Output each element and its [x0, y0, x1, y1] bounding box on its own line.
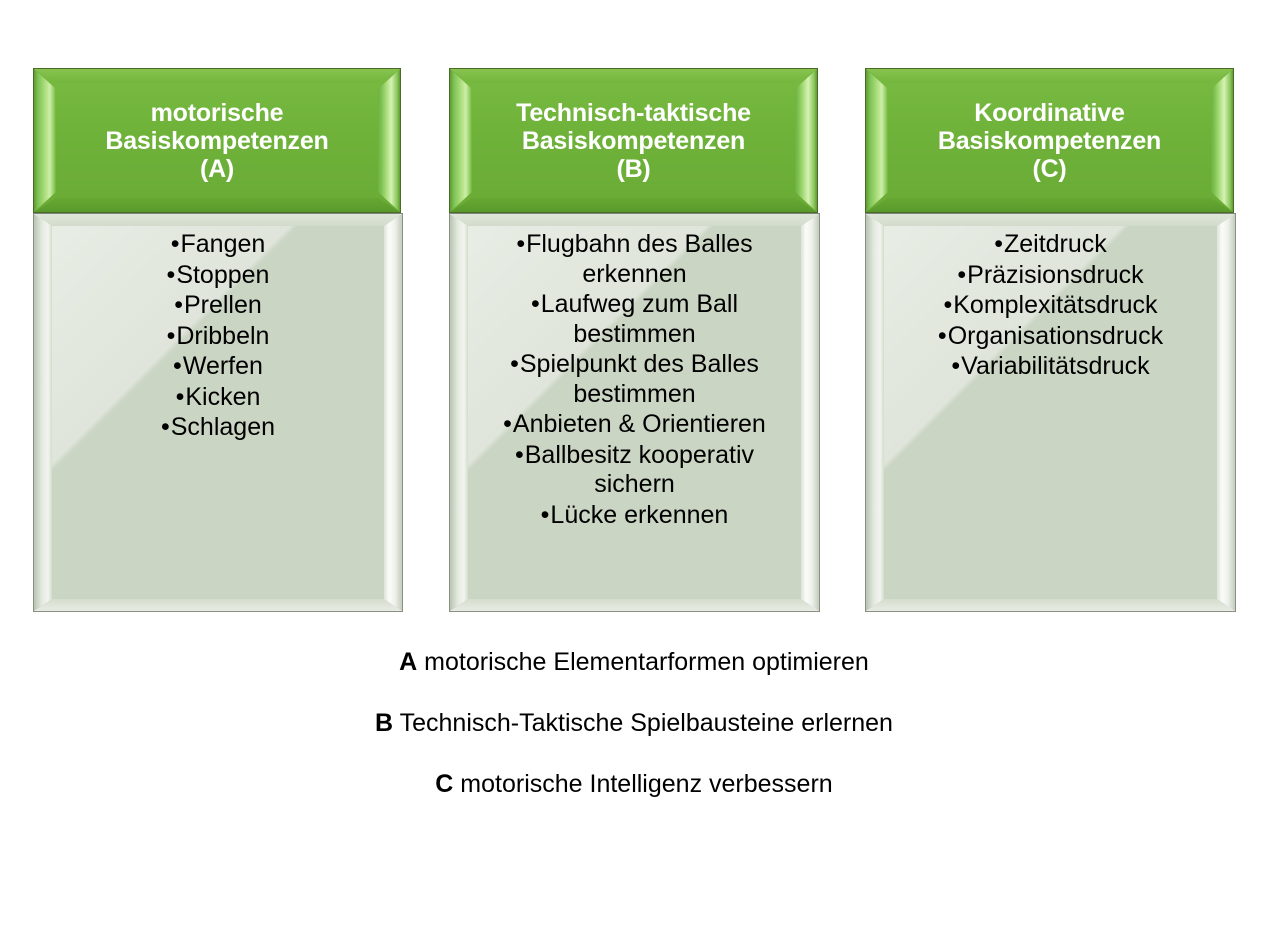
list-item: Dribbeln	[56, 322, 380, 352]
card-title-a: motorische Basiskompetenzen (A)	[34, 69, 400, 212]
competence-card-b: Technisch-taktische Basiskompetenzen (B)…	[449, 68, 820, 612]
card-title-c-line3: (C)	[1032, 155, 1066, 183]
list-item: Anbieten & Orientieren	[472, 410, 797, 440]
card-title-a-line3: (A)	[200, 155, 234, 183]
card-title-c: Koordinative Basiskompetenzen (C)	[866, 69, 1233, 212]
body-bevel-bottom-icon	[34, 599, 402, 611]
card-title-c-line1: Koordinative	[974, 99, 1124, 127]
list-item: Flugbahn des Balles erkennen	[472, 230, 797, 289]
competence-list-a: Fangen Stoppen Prellen Dribbeln Werfen K…	[34, 214, 402, 443]
card-body-b: Flugbahn des Balles erkennen Laufweg zum…	[449, 213, 820, 612]
list-item: Prellen	[56, 291, 380, 321]
list-item: Präzisionsdruck	[888, 261, 1213, 291]
competence-list-c: Zeitdruck Präzisionsdruck Komplexitätsdr…	[866, 214, 1235, 382]
card-title-b-line2: Basiskompetenzen	[522, 127, 745, 155]
card-title-a-line2: Basiskompetenzen	[105, 127, 328, 155]
card-header-a: motorische Basiskompetenzen (A)	[33, 68, 401, 213]
list-item: Zeitdruck	[888, 230, 1213, 260]
card-title-a-line1: motorische	[151, 99, 284, 127]
legend-text-a: motorische Elementarformen optimieren	[417, 648, 869, 676]
card-body-c: Zeitdruck Präzisionsdruck Komplexitätsdr…	[865, 213, 1236, 612]
legend-line-b: B Technisch-Taktische Spielbausteine erl…	[0, 711, 1268, 736]
list-item: Komplexitätsdruck	[888, 291, 1213, 321]
card-title-b: Technisch-taktische Basiskompetenzen (B)	[450, 69, 817, 212]
body-bevel-bottom-icon	[866, 599, 1235, 611]
list-item: Organisationsdruck	[888, 322, 1213, 352]
list-item: Ballbesitz kooperativ sichern	[472, 441, 797, 500]
list-item: Schlagen	[56, 413, 380, 443]
card-header-c: Koordinative Basiskompetenzen (C)	[865, 68, 1234, 213]
legend-text-c: motorische Intelligenz verbessern	[453, 770, 832, 798]
legend-key-b: B	[375, 709, 393, 737]
legend-line-c: C motorische Intelligenz verbessern	[0, 772, 1268, 797]
card-header-b: Technisch-taktische Basiskompetenzen (B)	[449, 68, 818, 213]
competence-card-c: Koordinative Basiskompetenzen (C) Zeitdr…	[865, 68, 1236, 612]
list-item: Variabilitätsdruck	[888, 352, 1213, 382]
card-title-b-line1: Technisch-taktische	[516, 99, 751, 127]
list-item: Stoppen	[56, 261, 380, 291]
card-title-c-line2: Basiskompetenzen	[938, 127, 1161, 155]
list-item: Lücke erkennen	[472, 501, 797, 531]
card-title-b-line3: (B)	[616, 155, 650, 183]
list-item: Fangen	[56, 230, 380, 260]
list-item: Spielpunkt des Balles bestimmen	[472, 350, 797, 409]
list-item: Kicken	[56, 383, 380, 413]
list-item: Laufweg zum Ball bestimmen	[472, 290, 797, 349]
legend-key-a: A	[399, 648, 417, 676]
legend-text-b: Technisch-Taktische Spielbausteine erler…	[393, 709, 893, 737]
competence-card-a: motorische Basiskompetenzen (A) Fangen S…	[33, 68, 403, 612]
competence-list-b: Flugbahn des Balles erkennen Laufweg zum…	[450, 214, 819, 530]
body-bevel-bottom-icon	[450, 599, 819, 611]
legend-key-c: C	[435, 770, 453, 798]
legend-line-a: A motorische Elementarformen optimieren	[0, 650, 1268, 675]
list-item: Werfen	[56, 352, 380, 382]
card-body-a: Fangen Stoppen Prellen Dribbeln Werfen K…	[33, 213, 403, 612]
